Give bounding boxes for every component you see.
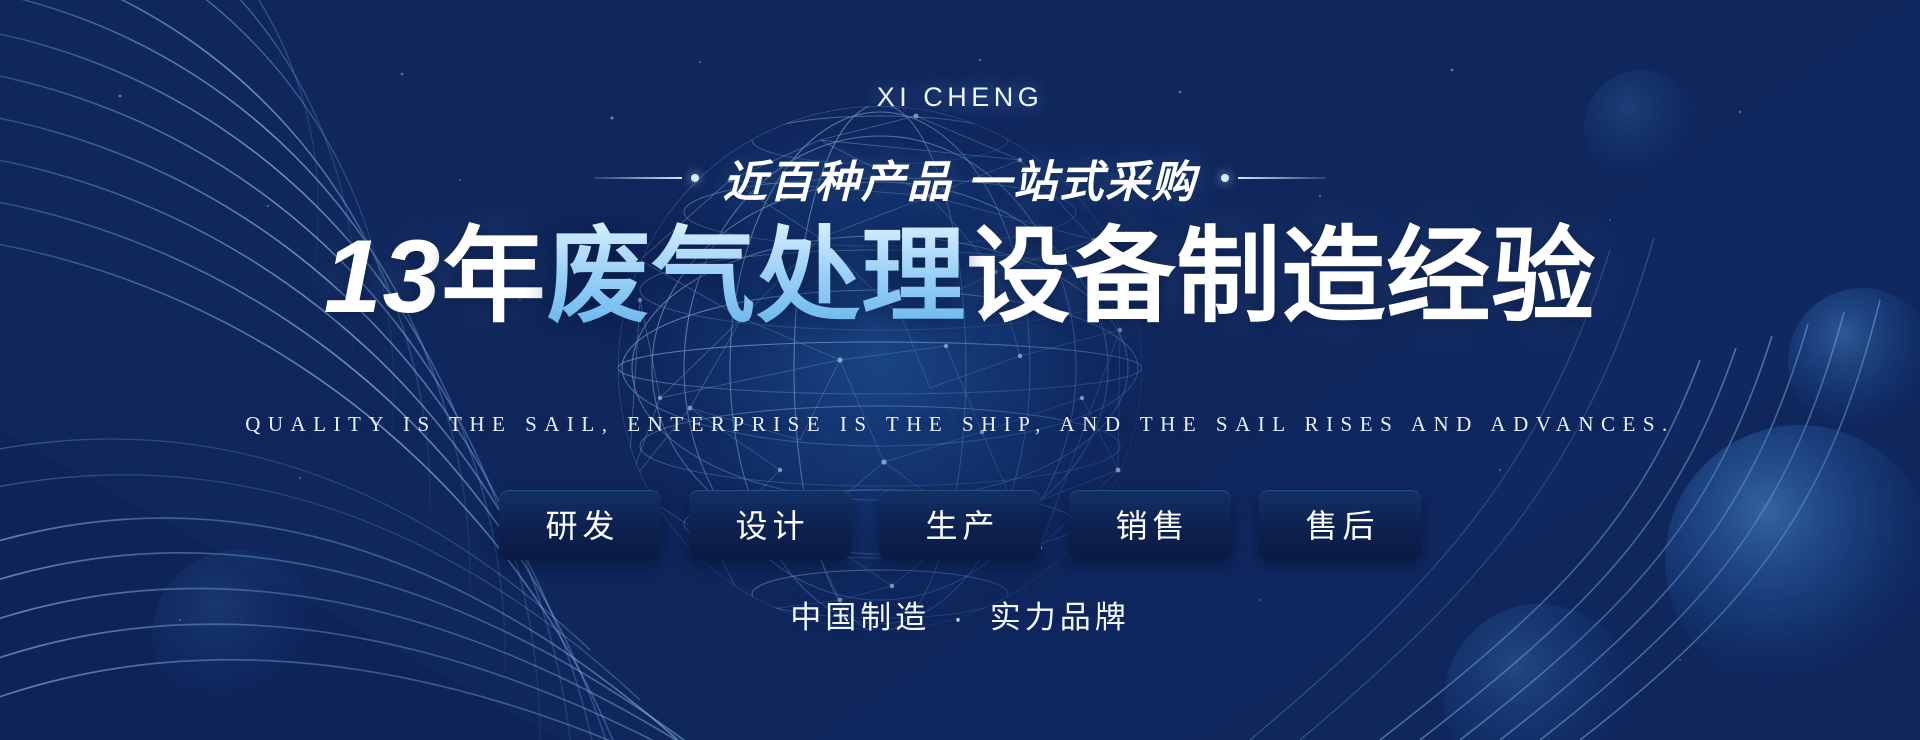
decor-bar xyxy=(594,177,682,179)
hero-banner: XI CHENG 近百种产品 一站式采购 13年废气处理设备制造经验 QUALI… xyxy=(0,0,1920,740)
banner-headline: 13年废气处理设备制造经验 xyxy=(0,222,1920,332)
subtitle-decor-right xyxy=(1221,174,1326,182)
headline-highlight: 废气处理 xyxy=(546,219,966,335)
headline-rest: 设备制造经验 xyxy=(966,219,1596,335)
banner-subtitle: 近百种产品 一站式采购 xyxy=(723,146,1197,210)
service-tag-rd[interactable]: 研发 xyxy=(499,490,661,560)
decor-dot xyxy=(1221,174,1229,182)
brand-name: XI CHENG xyxy=(0,82,1920,113)
service-tag-sales[interactable]: 销售 xyxy=(1069,490,1231,560)
footnote-separator: · xyxy=(943,600,977,635)
headline-years-number: 13 xyxy=(324,222,442,332)
banner-footnote: 中国制造 · 实力品牌 xyxy=(0,592,1920,637)
decor-dot xyxy=(691,174,699,182)
decor-bar xyxy=(1238,177,1326,179)
service-tag-design[interactable]: 设计 xyxy=(689,490,851,560)
service-tag-list: 研发 设计 生产 销售 售后 xyxy=(0,490,1920,560)
service-tag-production[interactable]: 生产 xyxy=(879,490,1041,560)
headline-years-unit: 年 xyxy=(441,219,546,335)
subtitle-row: 近百种产品 一站式采购 xyxy=(0,146,1920,210)
banner-tagline: QUALITY IS THE SAIL, ENTERPRISE IS THE S… xyxy=(0,412,1920,437)
service-tag-aftersales[interactable]: 售后 xyxy=(1259,490,1421,560)
footnote-left: 中国制造 xyxy=(790,600,930,635)
subtitle-decor-left xyxy=(594,174,699,182)
footnote-right: 实力品牌 xyxy=(990,600,1130,635)
